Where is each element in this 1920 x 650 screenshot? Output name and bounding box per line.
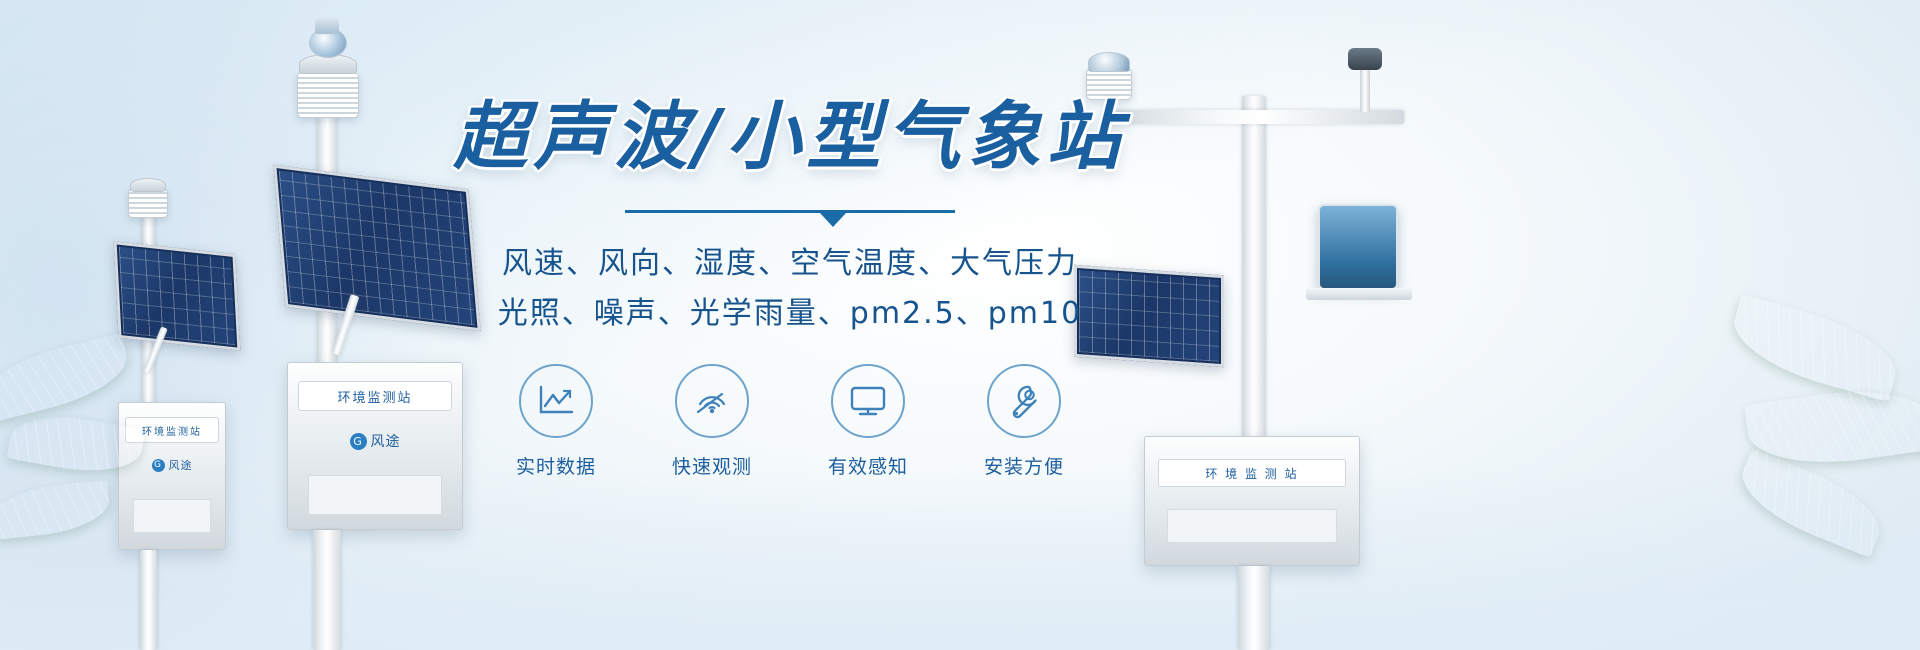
title-divider	[625, 205, 955, 223]
feature-icon-ring	[519, 364, 593, 438]
feature-label: 实时数据	[501, 452, 611, 479]
cabinet-access-door	[308, 475, 442, 515]
cabinet-label-text: 环境监测站	[337, 387, 412, 406]
feature-label: 快速观测	[657, 452, 767, 479]
mast-base	[1238, 566, 1270, 650]
feature-item-easy-installation[interactable]: 安装方便	[969, 364, 1079, 479]
feature-label: 安装方便	[969, 452, 1079, 479]
mast-base	[140, 550, 157, 650]
temperature-shield-sensor	[297, 72, 359, 118]
wrench-icon	[1004, 382, 1044, 420]
rain-gauge	[1318, 204, 1398, 290]
solar-panel	[114, 241, 241, 351]
feature-item-realtime-data[interactable]: 实时数据	[501, 364, 611, 479]
rain-gauge-shelf	[1306, 288, 1412, 300]
cabinet-label-text: 环境监测站	[142, 423, 202, 438]
monitor-icon	[848, 384, 888, 418]
cross-arm	[1104, 110, 1404, 124]
monitoring-cabinet: 环境监测站 G 风途	[287, 362, 463, 530]
subtitle-line-2: 光照、噪声、光学雨量、pm2.5、pm10	[440, 291, 1140, 338]
monitoring-cabinet: 环境监测站 G 风途	[118, 402, 226, 550]
page-title: 超声波/小型气象站	[440, 96, 1140, 179]
brand-name-text: 风途	[371, 431, 401, 451]
cabinet-label-text: 环 境 监 测 站	[1205, 465, 1298, 482]
radar-signal-icon	[692, 382, 732, 420]
cabinet-label-plate: 环境监测站	[298, 381, 451, 411]
sensor-cap	[130, 178, 166, 192]
feature-list: 实时数据 快速观测	[440, 364, 1140, 479]
temperature-shield-sensor	[128, 188, 168, 218]
ultrasonic-wind-sensor	[1088, 52, 1130, 72]
cabinet-access-door	[1167, 509, 1337, 543]
leaf-decoration	[0, 480, 112, 540]
solar-panel-cells	[119, 247, 235, 345]
brand-logo: G 风途	[288, 431, 462, 451]
anemometer-head-icon	[1348, 48, 1382, 70]
leaf-decoration	[1731, 448, 1892, 558]
line-chart-icon	[536, 384, 576, 418]
cabinet-label-plate: 环 境 监 测 站	[1158, 459, 1346, 487]
feature-label: 有效感知	[813, 452, 923, 479]
brand-mark-icon: G	[350, 433, 367, 450]
monitoring-cabinet: 环 境 监 测 站	[1144, 436, 1360, 566]
divider-bar	[625, 210, 955, 213]
divider-triangle-icon	[820, 213, 846, 227]
brand-name-text: 风途	[169, 457, 193, 473]
leaf-decoration	[1724, 294, 1905, 402]
feature-icon-ring	[831, 364, 905, 438]
banner-content: 超声波/小型气象站 风速、风向、湿度、空气温度、大气压力 光照、噪声、光学雨量、…	[440, 96, 1140, 479]
cabinet-access-door	[133, 499, 211, 533]
mast-base	[313, 530, 341, 650]
feature-item-effective-sensing[interactable]: 有效感知	[813, 364, 923, 479]
feature-icon-ring	[675, 364, 749, 438]
feature-icon-ring	[987, 364, 1061, 438]
brand-mark-icon: G	[152, 459, 165, 472]
feature-item-fast-observation[interactable]: 快速观测	[657, 364, 767, 479]
sensor-top-mount	[315, 18, 339, 34]
weather-station-banner: 环境监测站 G 风途 环境监测站 G 风途	[0, 0, 1920, 650]
subtitle-line-1: 风速、风向、湿度、空气温度、大气压力	[440, 241, 1140, 288]
